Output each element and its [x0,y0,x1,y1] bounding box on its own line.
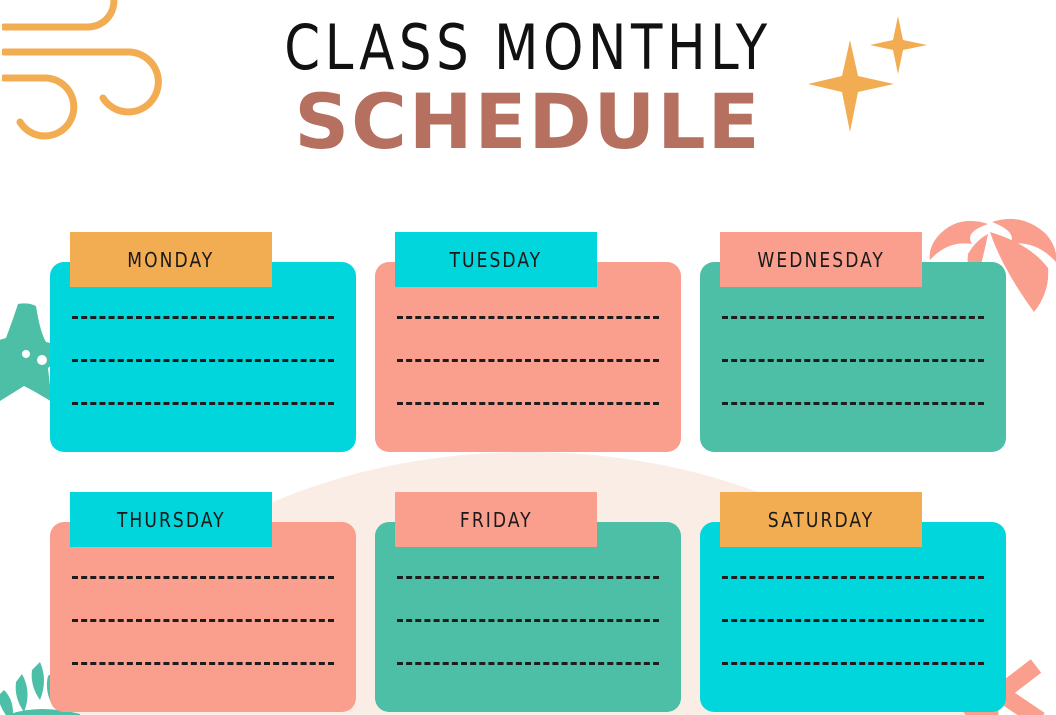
day-card-body[interactable] [700,262,1006,452]
day-tab-friday[interactable]: FRIDAY [395,492,597,547]
write-line[interactable] [72,359,334,362]
write-line[interactable] [397,576,659,579]
day-label: FRIDAY [460,508,533,532]
write-lines[interactable] [722,564,984,665]
write-line[interactable] [722,402,984,405]
write-line[interactable] [72,662,334,665]
day-tab-thursday[interactable]: THURSDAY [70,492,272,547]
write-line[interactable] [397,619,659,622]
day-card-body[interactable] [50,522,356,712]
write-line[interactable] [722,576,984,579]
write-line[interactable] [722,619,984,622]
write-line[interactable] [397,316,659,319]
write-line[interactable] [722,662,984,665]
day-card-body[interactable] [375,522,681,712]
write-lines[interactable] [722,304,984,405]
write-line[interactable] [72,316,334,319]
day-card-body[interactable] [375,262,681,452]
write-lines[interactable] [72,304,334,405]
day-label: WEDNESDAY [757,248,885,272]
write-line[interactable] [722,359,984,362]
day-tab-saturday[interactable]: SATURDAY [720,492,922,547]
write-lines[interactable] [397,564,659,665]
write-line[interactable] [72,402,334,405]
write-line[interactable] [397,359,659,362]
write-line[interactable] [397,402,659,405]
write-line[interactable] [397,662,659,665]
day-label: TUESDAY [450,248,543,272]
write-lines[interactable] [397,304,659,405]
write-line[interactable] [72,576,334,579]
write-line[interactable] [72,619,334,622]
write-lines[interactable] [72,564,334,665]
write-line[interactable] [722,316,984,319]
day-label: MONDAY [127,248,214,272]
schedule-poster: CLASS MONTHLY SCHEDULE MONDAY [0,0,1056,715]
day-tab-tuesday[interactable]: TUESDAY [395,232,597,287]
day-tab-wednesday[interactable]: WEDNESDAY [720,232,922,287]
day-tab-monday[interactable]: MONDAY [70,232,272,287]
day-label: SATURDAY [768,508,874,532]
day-card-body[interactable] [50,262,356,452]
day-label: THURSDAY [117,508,226,532]
day-card-body[interactable] [700,522,1006,712]
schedule-grid: MONDAY TUESDAY [0,0,1056,715]
